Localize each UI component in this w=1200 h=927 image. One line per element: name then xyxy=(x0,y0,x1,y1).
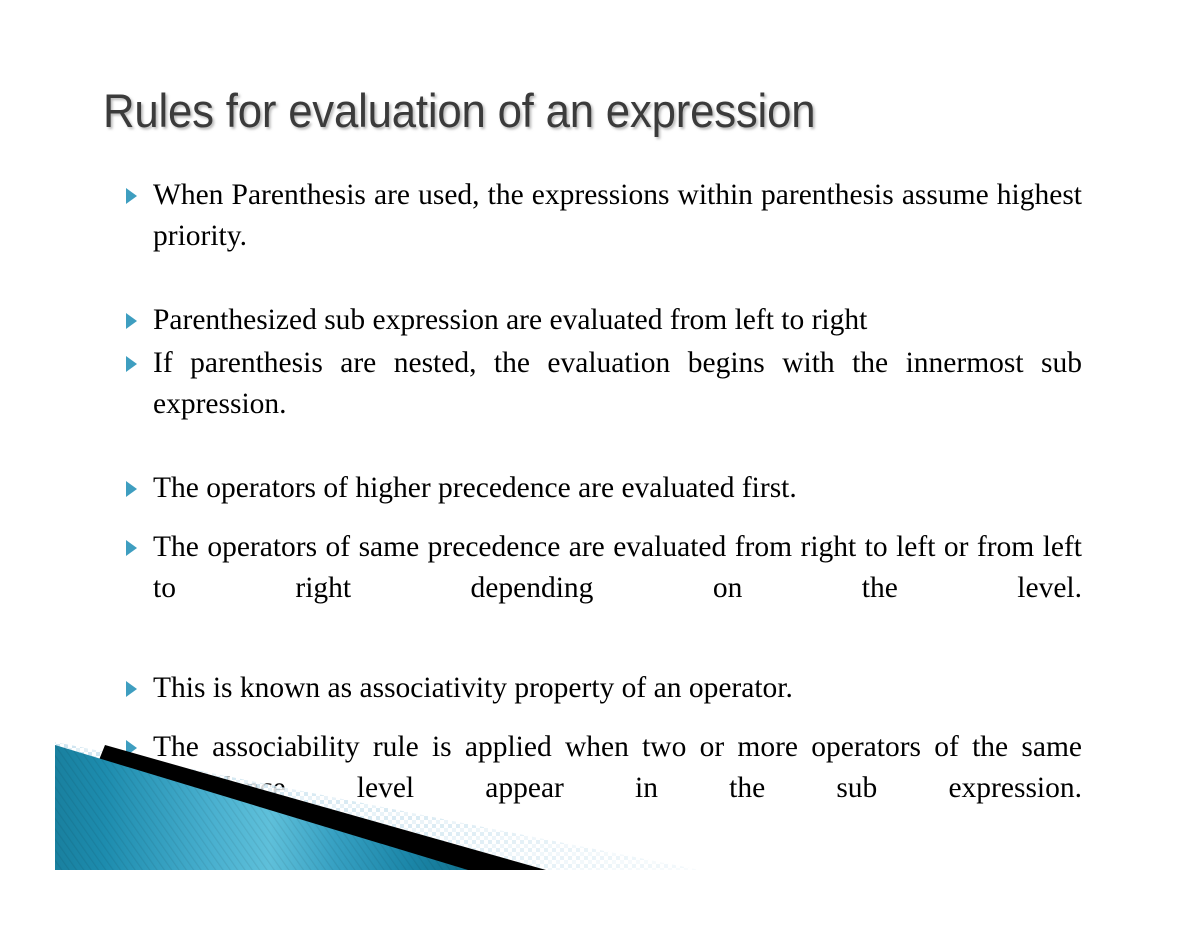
list-item-text: The operators of same precedence are eva… xyxy=(153,527,1082,650)
list-item-text: Parenthesized sub expression are evaluat… xyxy=(153,300,1082,341)
list-item: When Parenthesis are used, the expressio… xyxy=(120,175,1082,298)
triangle-right-icon xyxy=(126,481,137,497)
list-item-text: When Parenthesis are used, the expressio… xyxy=(153,175,1082,298)
triangle-right-icon xyxy=(126,681,137,697)
list-item: This is known as associativity property … xyxy=(120,668,1082,709)
list-item-text: The associability rule is applied when t… xyxy=(153,727,1082,850)
list-item-text: The operators of higher precedence are e… xyxy=(153,468,1082,509)
triangle-right-icon xyxy=(126,540,137,556)
list-item: The operators of higher precedence are e… xyxy=(120,468,1082,509)
triangle-right-icon xyxy=(126,188,137,204)
page-title: Rules for evaluation of an expression xyxy=(103,82,1033,144)
bullet-list: When Parenthesis are used, the expressio… xyxy=(120,175,1082,852)
list-item: The operators of same precedence are eva… xyxy=(120,527,1082,650)
list-item: The associability rule is applied when t… xyxy=(120,727,1082,850)
triangle-right-icon xyxy=(126,313,137,329)
triangle-right-icon xyxy=(126,740,137,756)
list-item: If parenthesis are nested, the evaluatio… xyxy=(120,343,1082,466)
list-item-text: This is known as associativity property … xyxy=(153,668,1082,709)
triangle-right-icon xyxy=(126,356,137,372)
list-item-text: If parenthesis are nested, the evaluatio… xyxy=(153,343,1082,466)
list-item: Parenthesized sub expression are evaluat… xyxy=(120,300,1082,341)
slide-canvas: Rules for evaluation of an expression Wh… xyxy=(0,0,1200,927)
